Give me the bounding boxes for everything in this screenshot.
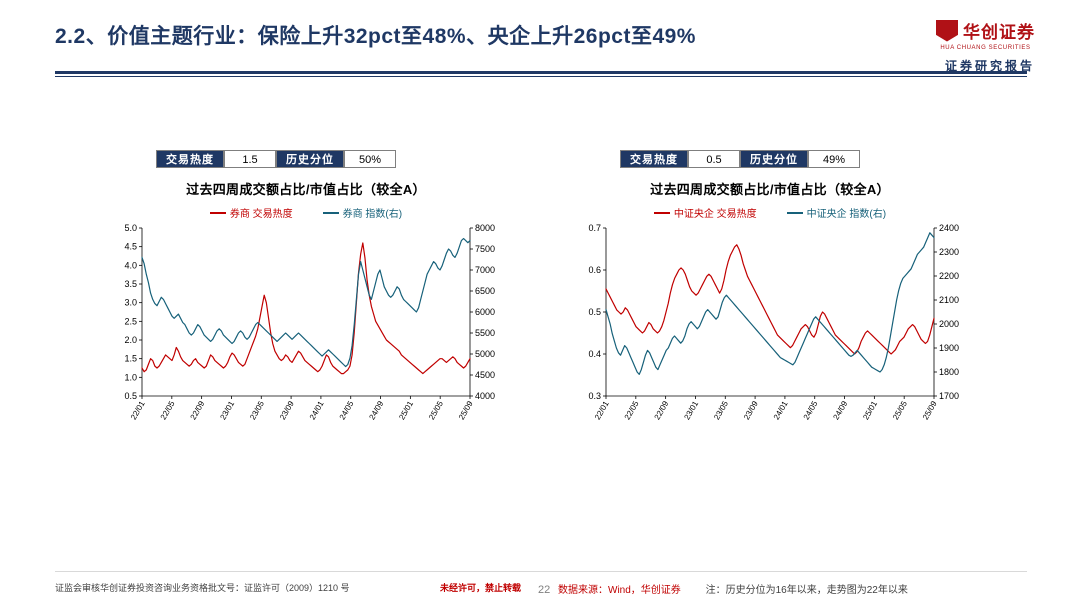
heat-label-right: 交易热度 bbox=[620, 150, 688, 168]
chart-title-left: 过去四周成交额占比/市值占比（较全A） bbox=[96, 179, 516, 198]
legend-item-index-right: 中证央企 指数(右) bbox=[787, 205, 886, 220]
page-title: 2.2、价值主题行业：保险上升32pct至48%、央企上升26pct至49% bbox=[55, 20, 696, 50]
percentile-value-right: 49% bbox=[808, 150, 860, 168]
legend-item-heat-left: 券商 交易热度 bbox=[210, 205, 293, 220]
legend-label-heat-right: 中证央企 交易热度 bbox=[674, 205, 757, 220]
svg-text:23/05: 23/05 bbox=[712, 399, 730, 421]
percentile-label-left: 历史分位 bbox=[276, 150, 344, 168]
chart-svg-right: 0.30.40.50.60.71700180019002000210022002… bbox=[560, 222, 980, 432]
svg-text:4500: 4500 bbox=[475, 370, 495, 380]
svg-text:25/05: 25/05 bbox=[891, 399, 909, 421]
svg-text:0.6: 0.6 bbox=[588, 265, 601, 275]
header-rule-thick bbox=[55, 71, 1027, 74]
legend-swatch-blue-icon bbox=[787, 212, 803, 214]
badge-row-left: 交易热度 1.5 历史分位 50% bbox=[156, 150, 456, 170]
svg-text:23/01: 23/01 bbox=[682, 399, 700, 421]
chart-legend-right: 中证央企 交易热度 中证央企 指数(右) bbox=[560, 205, 980, 220]
legend-swatch-red-icon bbox=[210, 212, 226, 214]
footer-source-text: 数据来源：Wind，华创证券 bbox=[558, 585, 681, 596]
svg-text:5000: 5000 bbox=[475, 349, 495, 359]
heat-value-left: 1.5 bbox=[224, 150, 276, 168]
header-rule-thin bbox=[55, 76, 1027, 77]
svg-text:25/09: 25/09 bbox=[921, 399, 939, 421]
svg-text:22/05: 22/05 bbox=[623, 399, 641, 421]
svg-text:2.0: 2.0 bbox=[124, 335, 137, 345]
plot-area-left: 0.51.01.52.02.53.03.54.04.55.04000450050… bbox=[96, 222, 516, 412]
svg-text:25/09: 25/09 bbox=[457, 399, 475, 421]
svg-text:2000: 2000 bbox=[939, 319, 959, 329]
legend-label-index-right: 中证央企 指数(右) bbox=[807, 205, 886, 220]
company-logo: 华创证券 HUA CHUANG SECURITIES 证券研究报告 bbox=[936, 18, 1035, 74]
svg-text:24/09: 24/09 bbox=[367, 399, 385, 421]
logo-english-text: HUA CHUANG SECURITIES bbox=[936, 45, 1035, 51]
svg-text:4.0: 4.0 bbox=[124, 260, 137, 270]
legend-swatch-blue-icon bbox=[323, 212, 339, 214]
svg-text:1900: 1900 bbox=[939, 343, 959, 353]
footer-copyright-text: 未经许可，禁止转载 bbox=[440, 581, 521, 594]
svg-text:22/01: 22/01 bbox=[129, 399, 147, 421]
legend-item-heat-right: 中证央企 交易热度 bbox=[654, 205, 757, 220]
legend-label-index-left: 券商 指数(右) bbox=[343, 205, 402, 220]
percentile-value-left: 50% bbox=[344, 150, 396, 168]
svg-text:25/01: 25/01 bbox=[861, 399, 879, 421]
svg-text:23/05: 23/05 bbox=[248, 399, 266, 421]
svg-text:0.4: 0.4 bbox=[588, 349, 601, 359]
svg-text:5.0: 5.0 bbox=[124, 223, 137, 233]
chart-title-right: 过去四周成交额占比/市值占比（较全A） bbox=[560, 179, 980, 198]
svg-text:25/01: 25/01 bbox=[397, 399, 415, 421]
svg-text:24/05: 24/05 bbox=[802, 399, 820, 421]
logo-mark-icon bbox=[936, 20, 958, 42]
logo-text: 华创证券 bbox=[963, 18, 1035, 43]
legend-swatch-red-icon bbox=[654, 212, 670, 214]
svg-text:6500: 6500 bbox=[475, 286, 495, 296]
svg-text:6000: 6000 bbox=[475, 307, 495, 317]
svg-text:0.3: 0.3 bbox=[588, 391, 601, 401]
svg-text:3.0: 3.0 bbox=[124, 298, 137, 308]
svg-text:24/01: 24/01 bbox=[308, 399, 326, 421]
svg-text:23/09: 23/09 bbox=[742, 399, 760, 421]
svg-text:1800: 1800 bbox=[939, 367, 959, 377]
svg-text:2400: 2400 bbox=[939, 223, 959, 233]
chart-legend-left: 券商 交易热度 券商 指数(右) bbox=[96, 205, 516, 220]
svg-text:22/09: 22/09 bbox=[189, 399, 207, 421]
svg-text:25/05: 25/05 bbox=[427, 399, 445, 421]
svg-text:4000: 4000 bbox=[475, 391, 495, 401]
svg-text:2200: 2200 bbox=[939, 271, 959, 281]
slide: 2.2、价值主题行业：保险上升32pct至48%、央企上升26pct至49% 华… bbox=[0, 0, 1080, 608]
svg-text:22/01: 22/01 bbox=[593, 399, 611, 421]
legend-label-heat-left: 券商 交易热度 bbox=[230, 205, 293, 220]
svg-text:1.0: 1.0 bbox=[124, 372, 137, 382]
svg-text:2100: 2100 bbox=[939, 295, 959, 305]
svg-text:24/01: 24/01 bbox=[772, 399, 790, 421]
svg-text:3.5: 3.5 bbox=[124, 279, 137, 289]
svg-text:8000: 8000 bbox=[475, 223, 495, 233]
svg-text:1.5: 1.5 bbox=[124, 354, 137, 364]
page-number: 22 bbox=[538, 584, 550, 596]
svg-text:23/01: 23/01 bbox=[218, 399, 236, 421]
svg-text:7500: 7500 bbox=[475, 244, 495, 254]
svg-text:0.5: 0.5 bbox=[124, 391, 137, 401]
legend-item-index-left: 券商 指数(右) bbox=[323, 205, 402, 220]
svg-text:0.7: 0.7 bbox=[588, 223, 601, 233]
svg-text:2.5: 2.5 bbox=[124, 316, 137, 326]
svg-text:23/09: 23/09 bbox=[278, 399, 296, 421]
badge-row-right: 交易热度 0.5 历史分位 49% bbox=[620, 150, 920, 170]
footer-note-text: 注：历史分位为16年以来，走势图为22年以来 bbox=[706, 585, 908, 596]
svg-text:22/05: 22/05 bbox=[159, 399, 177, 421]
footer-divider bbox=[55, 571, 1027, 572]
svg-text:1700: 1700 bbox=[939, 391, 959, 401]
footer-source: 数据来源：Wind，华创证券 注：历史分位为16年以来，走势图为22年以来 bbox=[558, 581, 908, 596]
heat-value-right: 0.5 bbox=[688, 150, 740, 168]
footer-license-text: 证监会审核华创证券投资咨询业务资格批文号：证监许可（2009）1210 号 bbox=[55, 581, 350, 594]
svg-text:22/09: 22/09 bbox=[653, 399, 671, 421]
heat-label-left: 交易热度 bbox=[156, 150, 224, 168]
chart-panel-brokerage: 交易热度 1.5 历史分位 50% 过去四周成交额占比/市值占比（较全A） 券商… bbox=[96, 150, 516, 450]
svg-text:0.5: 0.5 bbox=[588, 307, 601, 317]
svg-text:7000: 7000 bbox=[475, 265, 495, 275]
svg-text:2300: 2300 bbox=[939, 247, 959, 257]
chart-panel-soe: 交易热度 0.5 历史分位 49% 过去四周成交额占比/市值占比（较全A） 中证… bbox=[560, 150, 980, 450]
svg-text:24/09: 24/09 bbox=[831, 399, 849, 421]
svg-text:4.5: 4.5 bbox=[124, 242, 137, 252]
chart-svg-left: 0.51.01.52.02.53.03.54.04.55.04000450050… bbox=[96, 222, 516, 432]
svg-text:24/05: 24/05 bbox=[338, 399, 356, 421]
percentile-label-right: 历史分位 bbox=[740, 150, 808, 168]
plot-area-right: 0.30.40.50.60.71700180019002000210022002… bbox=[560, 222, 980, 412]
svg-text:5500: 5500 bbox=[475, 328, 495, 338]
